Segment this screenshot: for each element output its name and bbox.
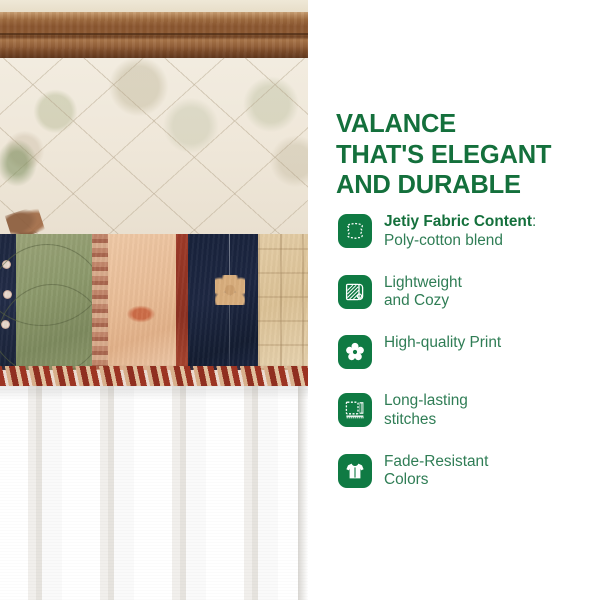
cream-quilted-panel: [0, 58, 308, 236]
patch-peach: [108, 234, 176, 370]
leather-hide-icon: [338, 214, 372, 248]
patch-rust-floral-strip: [92, 234, 108, 370]
patchwork-band: [0, 234, 308, 370]
feature-3-line-1: High-quality Print: [384, 334, 501, 351]
headline-line-1: VALANCE: [336, 109, 586, 140]
content-panel: VALANCE THAT'S ELEGANT AND DURABLE Jetiy…: [308, 0, 600, 600]
fabric-roll-icon: [338, 275, 372, 309]
feature-4-line-2: stitches: [384, 411, 468, 430]
list-item: Long-lasting stitches: [338, 391, 594, 430]
list-item-label: Jetiy Fabric Content: Poly-cotton blend: [384, 212, 536, 251]
list-item-label: Lightweight and Cozy: [384, 273, 462, 312]
flower-icon: [338, 335, 372, 369]
floral-motif: [0, 136, 40, 190]
patch-navy-tan-flower: [188, 234, 258, 370]
headline-line-2: THAT'S ELEGANT: [336, 140, 586, 171]
product-feature-card: VALANCE THAT'S ELEGANT AND DURABLE Jetiy…: [0, 0, 600, 600]
list-item: Jetiy Fabric Content: Poly-cotton blend: [338, 212, 594, 251]
feature-5-line-1: Fade-Resistant: [384, 453, 488, 470]
patch-tan-plaid: [258, 234, 308, 370]
patch-red-strip: [176, 234, 188, 370]
list-item-label: Fade-Resistant Colors: [384, 452, 488, 491]
list-item: High-quality Print: [338, 333, 594, 369]
stitched-patch-icon: [338, 393, 372, 427]
feature-5-line-2: Colors: [384, 471, 488, 490]
page-title: VALANCE THAT'S ELEGANT AND DURABLE: [336, 109, 586, 201]
tshirt-icon: [338, 454, 372, 488]
curtain-shadow-edge: [298, 386, 308, 600]
patch-sage-green: [16, 234, 92, 370]
diamond-stitch-pattern: [0, 58, 308, 236]
feature-1-line-2: Poly-cotton blend: [384, 232, 536, 251]
feature-list: Jetiy Fabric Content: Poly-cotton blend …: [338, 212, 594, 490]
headline-line-3: AND DURABLE: [336, 170, 586, 201]
feature-1-strong: Jetiy Fabric Content: [384, 213, 532, 230]
list-item: Fade-Resistant Colors: [338, 452, 594, 491]
feature-2-line-1: Lightweight: [384, 274, 462, 291]
list-item-label: Long-lasting stitches: [384, 391, 468, 430]
list-item-label: High-quality Print: [384, 333, 501, 353]
list-item: Lightweight and Cozy: [338, 273, 594, 312]
product-photo: [0, 0, 308, 600]
feature-1-colon: :: [532, 213, 536, 230]
wood-grain-texture: [0, 12, 308, 60]
sheer-curtain: [0, 386, 308, 600]
feature-4-line-1: Long-lasting: [384, 392, 468, 409]
wooden-cornice: [0, 12, 308, 60]
floral-binding-strip: [0, 366, 308, 387]
feature-2-line-2: and Cozy: [384, 292, 462, 311]
